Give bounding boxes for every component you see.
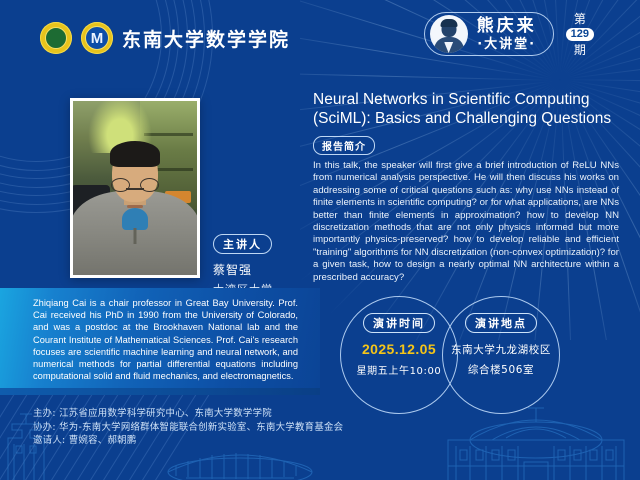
talk-location-label: 演讲地点 xyxy=(465,313,537,333)
footer-inviter: 邀请人: 曹婉容、郝朝鹏 xyxy=(33,434,343,448)
speaker-bio-text: Zhiqiang Cai is a chair professor in Gre… xyxy=(33,297,298,382)
seu-emblem-icon xyxy=(40,22,72,54)
speaker-role-label: 主讲人 xyxy=(213,234,272,254)
speaker-name: 蔡智强 xyxy=(213,261,303,278)
talk-date: 2025.12.05 xyxy=(362,341,436,357)
poster-canvas: 东南大学数学学院 熊庆来 ·大讲堂· 第 129 期 xyxy=(0,0,640,480)
talk-abstract: In this talk, the speaker will first giv… xyxy=(313,160,619,284)
issue-number-group: 第 129 期 xyxy=(566,13,594,56)
bio-panel-bottom-bar xyxy=(0,388,320,395)
university-name: 东南大学数学学院 xyxy=(122,25,290,52)
talk-time-circle: 演讲时间 2025.12.05 星期五上午10:00 xyxy=(340,296,458,414)
footer-co-organizer: 协办: 华为-东南大学网络群体智能联合创新实验室、东南大学教育基金会 xyxy=(33,421,343,435)
issue-suffix: 期 xyxy=(574,44,586,56)
speaker-bio-panel: Zhiqiang Cai is a chair professor in Gre… xyxy=(0,288,320,388)
footer-organizer: 主办: 江苏省应用数学科学研究中心、东南大学数学学院 xyxy=(33,407,343,421)
talk-location-line2: 综合楼506室 xyxy=(468,362,534,377)
talk-location-line1: 东南大学九龙湖校区 xyxy=(451,342,551,357)
header-logo-group: 东南大学数学学院 xyxy=(40,22,290,54)
speaker-photo xyxy=(73,101,197,275)
issue-number: 129 xyxy=(566,28,594,41)
xiong-qinglai-portrait-icon xyxy=(430,15,468,53)
talk-title: Neural Networks in Scientific Computing … xyxy=(313,90,619,128)
abstract-section-label: 报告简介 xyxy=(313,136,375,155)
lecture-series-title: 熊庆来 ·大讲堂· xyxy=(477,18,537,51)
math-school-emblem-icon xyxy=(81,22,113,54)
talk-details-column: Neural Networks in Scientific Computing … xyxy=(313,90,619,294)
talk-location-circle: 演讲地点 东南大学九龙湖校区 综合楼506室 xyxy=(442,296,560,414)
info-circles: 演讲时间 2025.12.05 星期五上午10:00 演讲地点 东南大学九龙湖校… xyxy=(340,296,640,416)
series-name-line2: ·大讲堂· xyxy=(477,38,536,51)
talk-time-label: 演讲时间 xyxy=(363,313,435,333)
series-name-line1: 熊庆来 xyxy=(477,18,537,35)
talk-time: 星期五上午10:00 xyxy=(357,362,442,377)
speaker-photo-frame xyxy=(70,98,200,278)
issue-prefix: 第 xyxy=(574,13,586,25)
footer-credits: 主办: 江苏省应用数学科学研究中心、东南大学数学学院 协办: 华为-东南大学网络… xyxy=(33,407,343,448)
poster-header: 东南大学数学学院 熊庆来 ·大讲堂· 第 129 期 xyxy=(0,0,640,74)
lecture-series-pill: 熊庆来 ·大讲堂· xyxy=(424,12,554,56)
lecture-series-badge: 熊庆来 ·大讲堂· 第 129 期 xyxy=(424,12,594,56)
